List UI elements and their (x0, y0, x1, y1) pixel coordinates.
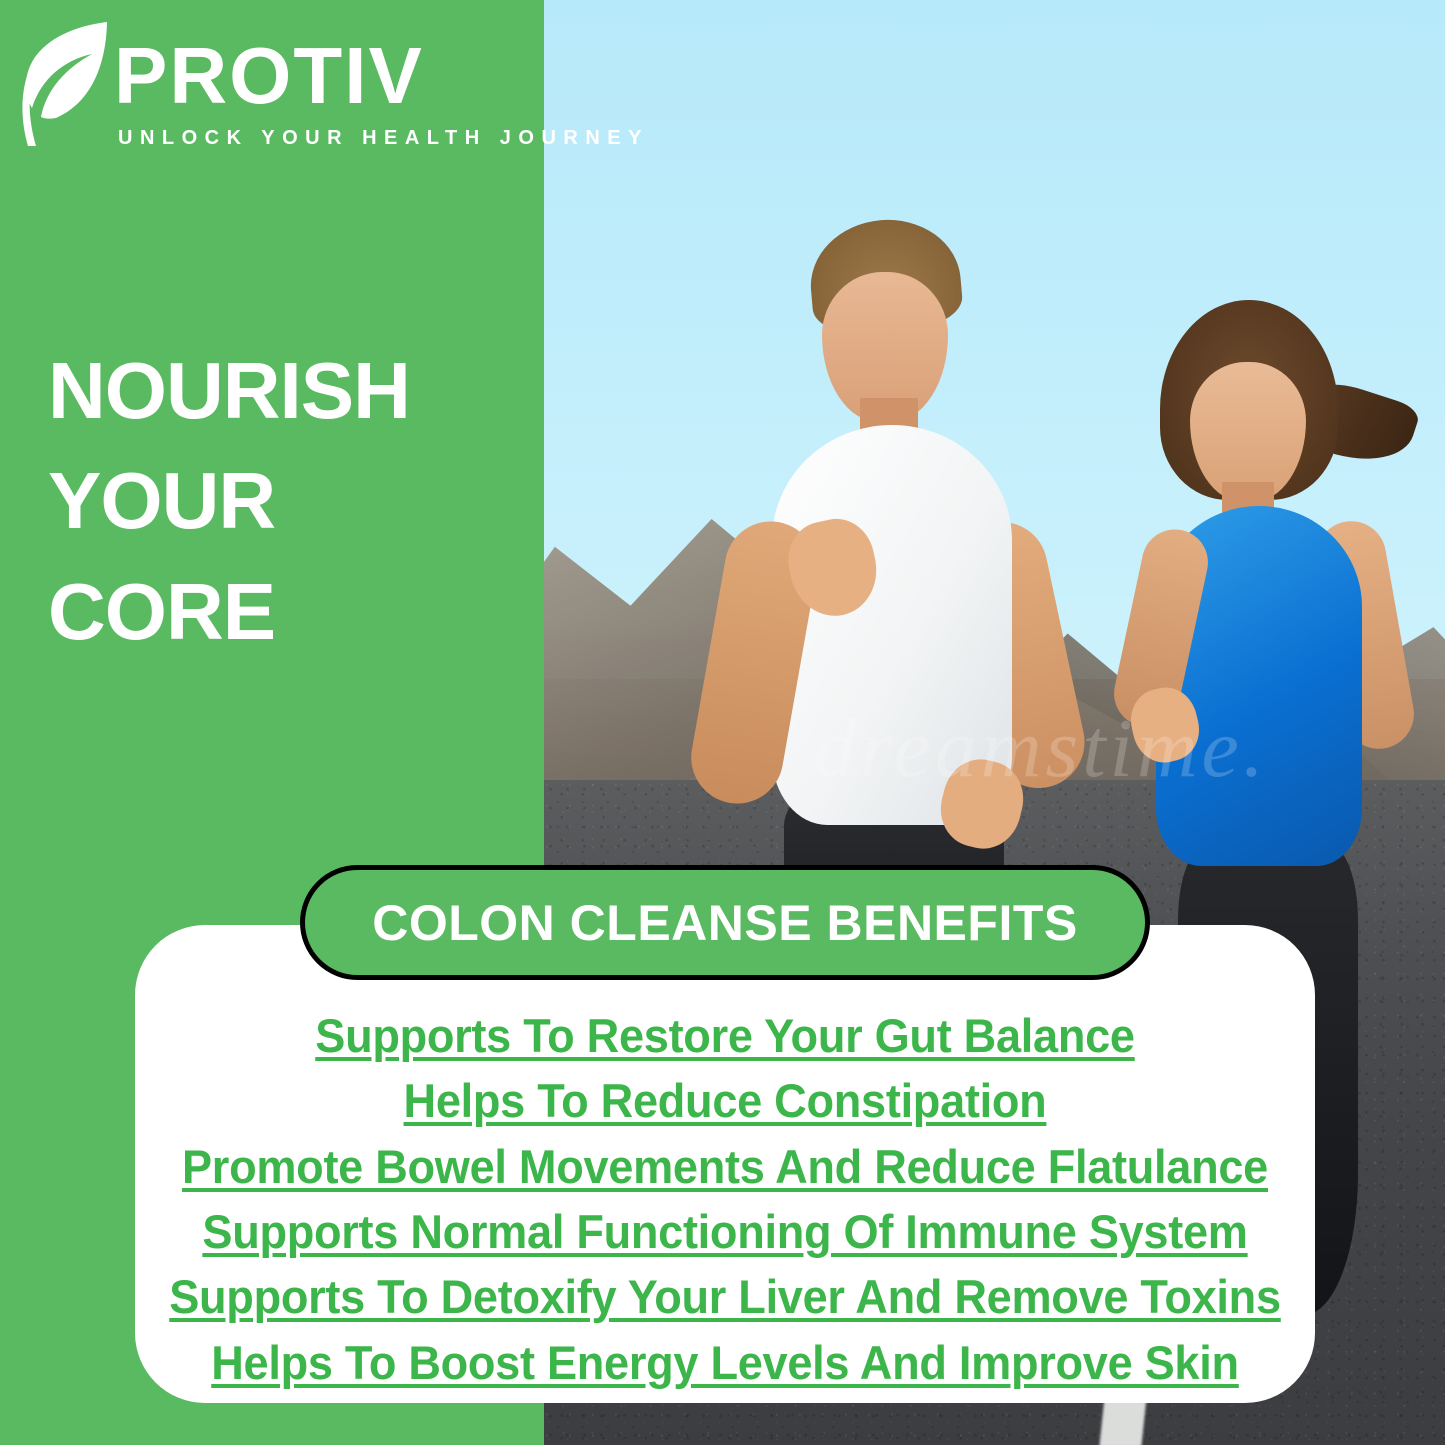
brand-tagline: UNLOCK YOUR HEALTH JOURNEY (118, 128, 649, 148)
status-badge: COLON CLEANSE BENEFITS (300, 865, 1150, 980)
benefit-item: Helps To Reduce Constipation (159, 1068, 1292, 1133)
benefit-item: Supports Normal Functioning Of Immune Sy… (159, 1199, 1292, 1264)
headline-line-3: CORE (48, 557, 518, 667)
benefit-item: Supports To Restore Your Gut Balance (159, 1003, 1292, 1068)
benefits-list: Supports To Restore Your Gut Balance Hel… (135, 1003, 1315, 1395)
headline-line-1: NOURISH (48, 336, 518, 446)
benefits-card: Supports To Restore Your Gut Balance Hel… (135, 925, 1315, 1403)
badge-label: COLON CLEANSE BENEFITS (372, 894, 1077, 952)
benefit-item: Promote Bowel Movements And Reduce Flatu… (159, 1134, 1292, 1199)
brand-logo: PROTIV UNLOCK YOUR HEALTH JOURNEY (10, 18, 430, 154)
benefit-item: Helps To Boost Energy Levels And Improve… (159, 1330, 1292, 1395)
promo-poster: dreamstime. PROTIV UNLOCK YOUR HEALTH JO… (0, 0, 1445, 1445)
brand-wordmark: PROTIV (114, 36, 424, 116)
benefit-item: Supports To Detoxify Your Liver And Remo… (159, 1264, 1292, 1329)
leaf-icon (10, 18, 114, 150)
headline-line-2: YOUR (48, 446, 518, 556)
page-title: NOURISH YOUR CORE (48, 336, 518, 667)
